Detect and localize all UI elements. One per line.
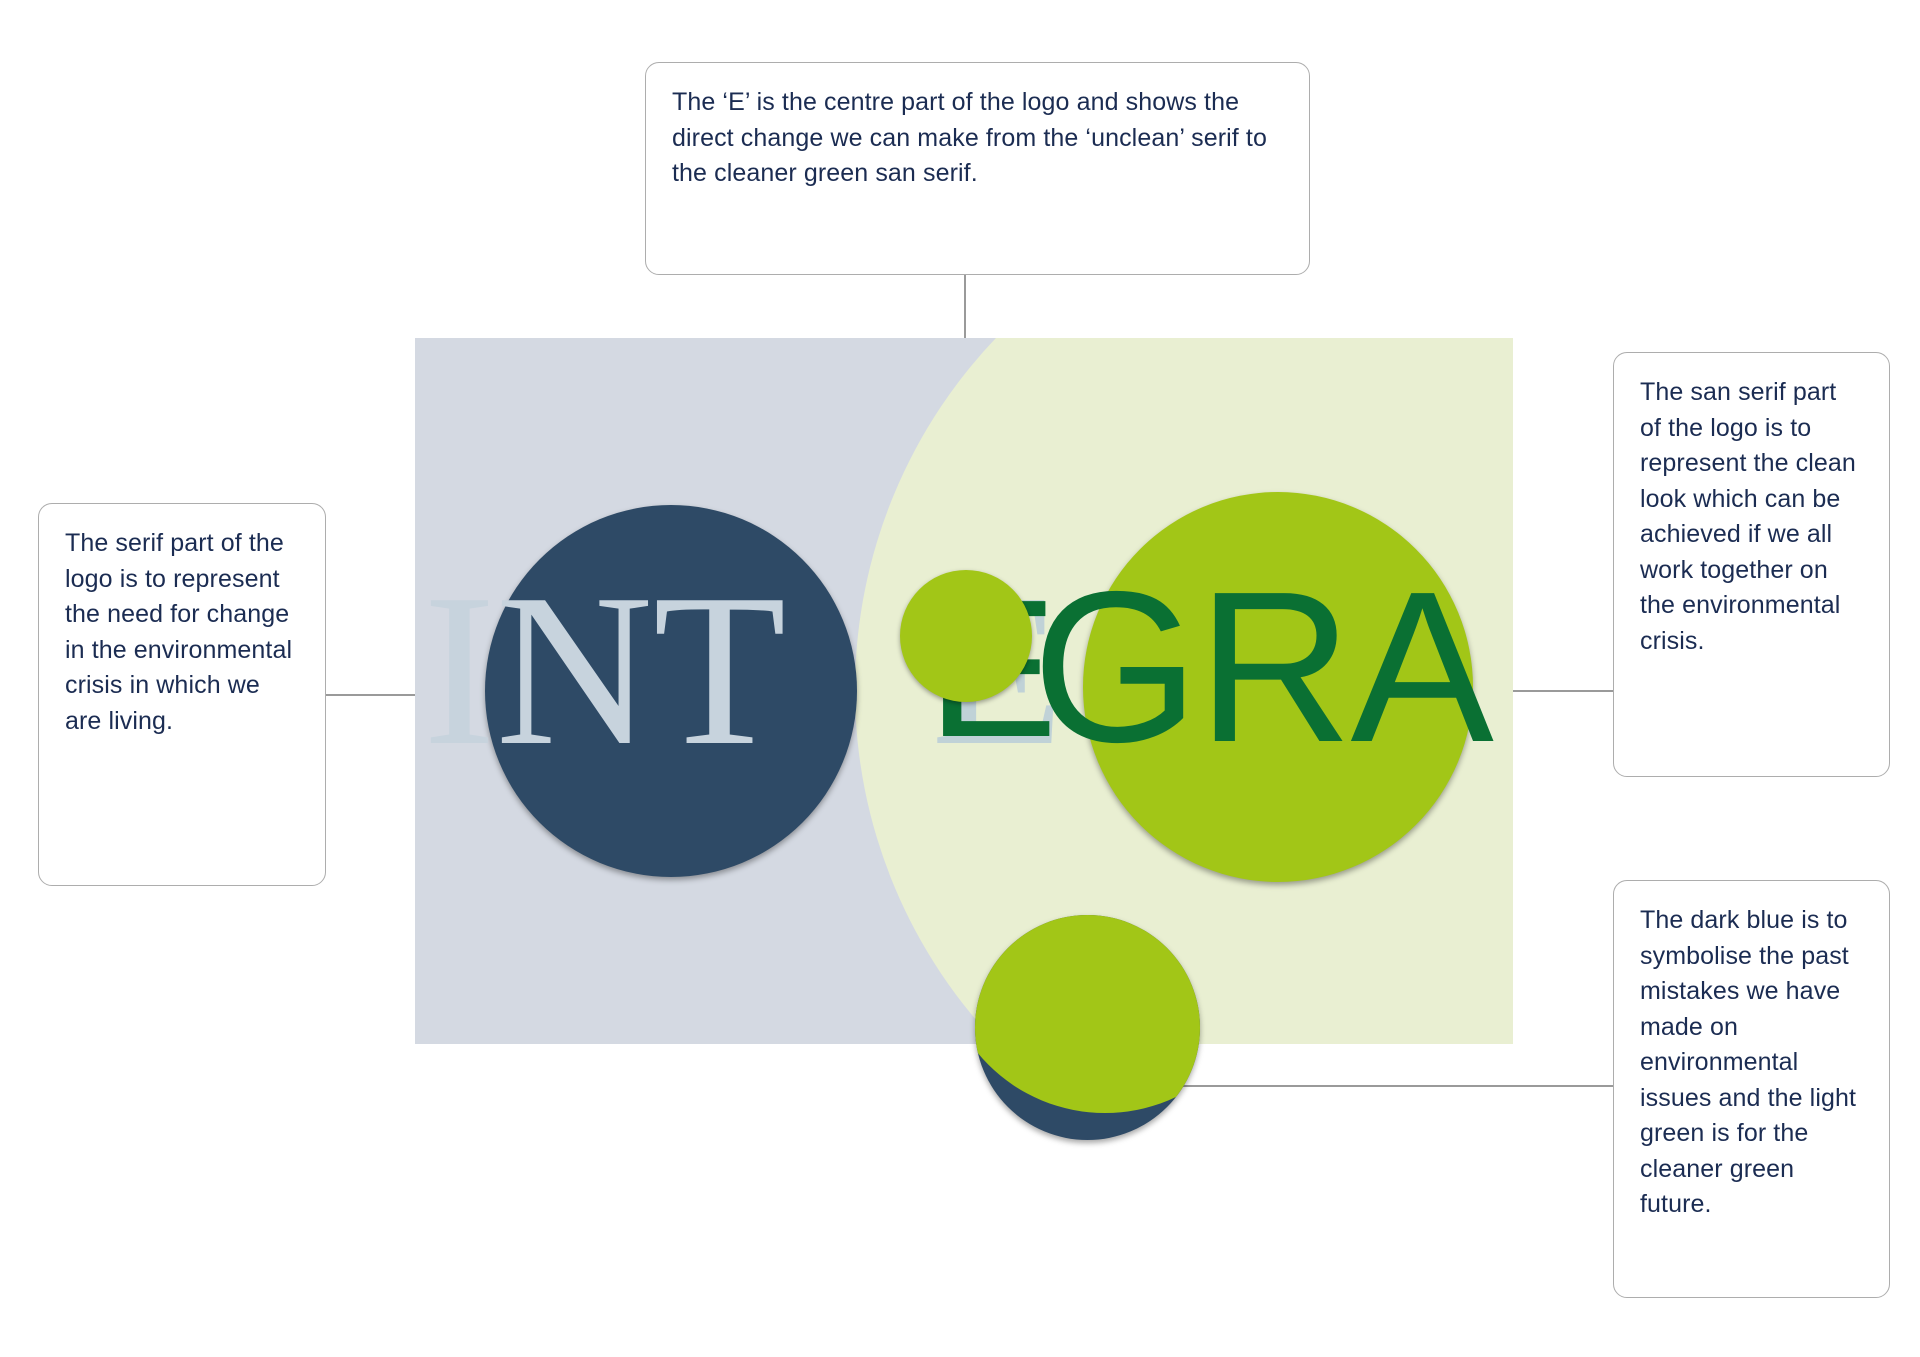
dark-blue-circle xyxy=(485,505,857,877)
callout-serif-text: The serif part of the logo is to represe… xyxy=(65,526,299,739)
callout-centre-e-text: The ‘E’ is the centre part of the logo a… xyxy=(672,85,1283,192)
logo-mark-green-half xyxy=(975,915,1200,1113)
callout-centre-e[interactable]: The ‘E’ is the centre part of the logo a… xyxy=(645,62,1310,275)
callout-san-serif[interactable]: The san serif part of the logo is to rep… xyxy=(1613,352,1890,777)
callout-san-serif-text: The san serif part of the logo is to rep… xyxy=(1640,375,1863,659)
callout-serif[interactable]: The serif part of the logo is to represe… xyxy=(38,503,326,886)
connector-line-right-bottom xyxy=(1170,1085,1615,1087)
centre-e-circle xyxy=(900,570,1032,702)
bright-green-circle xyxy=(1083,492,1473,882)
two-tone-logo-mark xyxy=(975,915,1200,1140)
diagram-stage: E INT GRA E The ‘E’ is the centre part o… xyxy=(0,0,1920,1357)
callout-colour[interactable]: The dark blue is to symbolise the past m… xyxy=(1613,880,1890,1298)
callout-colour-text: The dark blue is to symbolise the past m… xyxy=(1640,903,1863,1223)
